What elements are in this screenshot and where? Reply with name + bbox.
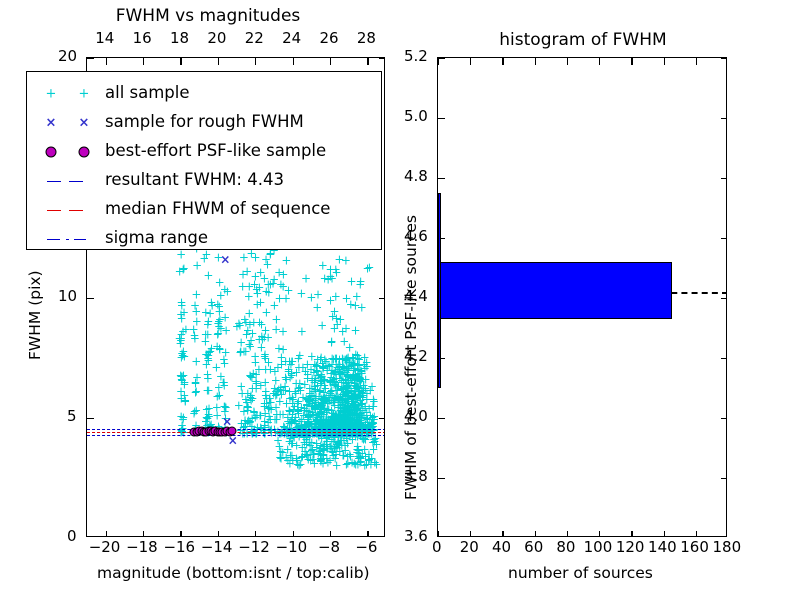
legend-marker <box>27 224 105 253</box>
dash-dot-line-icon <box>74 239 86 240</box>
axis-tick <box>664 58 665 65</box>
axis-tick-label: −8 <box>318 540 340 555</box>
axis-tick-label: −20 <box>89 540 121 555</box>
axis-tick <box>696 58 697 65</box>
axis-tick <box>106 531 107 536</box>
axis-tick <box>599 531 600 536</box>
axis-tick-label: 28 <box>357 31 376 46</box>
axis-tick <box>367 531 368 536</box>
axis-tick-label: 180 <box>713 540 742 555</box>
cross-icon: × <box>46 119 57 126</box>
axis-tick-label: 140 <box>648 540 677 555</box>
axis-tick <box>379 298 384 299</box>
cross-icon: × <box>79 119 90 126</box>
axis-tick-label: 22 <box>245 31 264 46</box>
legend-item[interactable]: resultant FWHM: 4.43 <box>27 166 381 195</box>
axis-tick-label: −10 <box>276 540 308 555</box>
legend-label: sigma range <box>105 230 208 247</box>
axis-tick <box>567 58 568 65</box>
axis-tick-label: 4.8 <box>404 169 428 184</box>
axis-tick <box>470 58 471 65</box>
legend-item[interactable]: best-effort PSF-like sample <box>27 137 381 166</box>
legend-box[interactable]: ++all sample××sample for rough FWHMbest-… <box>26 71 382 250</box>
dashed-line-icon <box>69 181 83 182</box>
legend-marker <box>27 166 105 195</box>
axis-tick <box>438 118 445 119</box>
axis-tick-label: 0 <box>432 540 442 555</box>
legend-label: best-effort PSF-like sample <box>105 143 326 160</box>
left-y-axis-label: FWHM (pix) <box>28 270 44 360</box>
axis-tick <box>438 418 445 419</box>
axis-tick-label: −14 <box>201 540 233 555</box>
axis-tick <box>438 478 445 479</box>
axis-tick-label: 120 <box>616 540 645 555</box>
left-plot-title: FWHM vs magnitudes <box>113 8 303 25</box>
axis-tick <box>438 178 445 179</box>
axis-tick <box>721 418 726 419</box>
axis-tick-label: 10 <box>58 289 77 304</box>
axis-tick <box>721 478 726 479</box>
axis-tick-label: 5.0 <box>404 109 428 124</box>
axis-tick <box>470 531 471 536</box>
left-x-axis-label: magnitude (bottom:isnt / top:calib) <box>97 566 370 582</box>
legend-item[interactable]: sigma range <box>27 224 381 253</box>
axis-tick-label: −6 <box>355 540 377 555</box>
axis-tick-label: 160 <box>680 540 709 555</box>
axis-tick <box>567 531 568 536</box>
axis-tick <box>721 58 726 59</box>
dash-dot-line-icon <box>47 239 60 240</box>
histogram-bar <box>438 193 441 388</box>
plus-icon: + <box>46 90 57 97</box>
axis-tick <box>721 298 726 299</box>
axis-tick <box>535 531 536 536</box>
axis-tick-label: 16 <box>133 31 152 46</box>
axis-tick <box>631 58 632 65</box>
right-plot-title: histogram of FWHM <box>478 32 688 49</box>
axis-tick <box>379 58 384 59</box>
right-x-axis-label: number of sources <box>508 566 653 582</box>
axis-tick <box>218 58 219 65</box>
axis-tick <box>180 531 181 536</box>
legend-item[interactable]: ××sample for rough FWHM <box>27 108 381 137</box>
axis-tick <box>87 58 94 59</box>
axis-tick-label: 80 <box>556 540 575 555</box>
axis-tick <box>330 531 331 536</box>
axis-tick-label: 60 <box>524 540 543 555</box>
axis-tick-label: 26 <box>319 31 338 46</box>
axis-tick <box>180 58 181 65</box>
axis-tick <box>106 58 107 65</box>
legend-marker: ×× <box>27 108 105 137</box>
axis-tick-label: 18 <box>170 31 189 46</box>
dashed-line-icon <box>47 210 61 211</box>
axis-tick-label: −18 <box>126 540 158 555</box>
axis-tick-label: 20 <box>460 540 479 555</box>
axis-tick <box>721 238 726 239</box>
axis-tick <box>255 58 256 65</box>
axis-tick <box>438 531 439 536</box>
axis-tick <box>502 531 503 536</box>
axis-tick <box>255 531 256 536</box>
axis-tick <box>535 58 536 65</box>
axis-tick <box>438 58 445 59</box>
figure-canvas: FWHM vs magnitudes 1416182022242628 0510… <box>0 0 800 600</box>
axis-tick <box>502 58 503 65</box>
axis-tick <box>143 531 144 536</box>
axis-tick-label: −16 <box>163 540 195 555</box>
axis-tick <box>218 531 219 536</box>
dashed-line-icon <box>47 181 61 182</box>
axis-tick <box>293 531 294 536</box>
axis-tick <box>696 531 697 536</box>
axis-tick <box>721 118 726 119</box>
axis-tick <box>330 58 331 65</box>
axis-tick-label: −12 <box>238 540 270 555</box>
axis-tick <box>721 358 726 359</box>
axis-tick-label: 20 <box>207 31 226 46</box>
axis-tick <box>631 531 632 536</box>
histogram-bar <box>438 262 672 319</box>
legend-marker <box>27 195 105 224</box>
axis-tick-label: 40 <box>492 540 511 555</box>
axis-tick <box>87 298 94 299</box>
histogram-axes[interactable] <box>437 57 727 537</box>
legend-label: sample for rough FWHM <box>105 114 304 131</box>
legend-item[interactable]: median FHWM of sequence <box>27 195 381 224</box>
filled-circle-icon <box>79 146 90 157</box>
axis-tick <box>599 58 600 65</box>
axis-tick-label: 0 <box>67 529 77 544</box>
axis-tick <box>293 58 294 65</box>
legend-marker: ++ <box>27 79 105 108</box>
dashed-line-icon <box>69 210 83 211</box>
axis-tick-label: 3.6 <box>404 529 428 544</box>
dash-dot-line-icon <box>66 239 69 240</box>
axis-tick-label: 24 <box>282 31 301 46</box>
right-y-axis-label: FWHM of best-effort PSF-like sources <box>404 215 420 500</box>
axis-tick <box>721 178 726 179</box>
axis-tick-label: 5.2 <box>404 49 428 64</box>
axis-tick-label: 14 <box>95 31 114 46</box>
legend-marker <box>27 137 105 166</box>
legend-item[interactable]: ++all sample <box>27 79 381 108</box>
legend-label: all sample <box>105 85 190 102</box>
legend-label: resultant FWHM: 4.43 <box>105 172 284 189</box>
filled-circle-icon <box>46 146 57 157</box>
legend-label: median FHWM of sequence <box>105 201 330 218</box>
axis-tick-label: 5 <box>67 409 77 424</box>
axis-tick <box>379 418 384 419</box>
axis-tick <box>664 531 665 536</box>
axis-tick-label: 20 <box>58 49 77 64</box>
plus-icon: + <box>79 90 90 97</box>
axis-tick <box>87 418 94 419</box>
axis-tick-label: 100 <box>584 540 613 555</box>
axis-tick <box>367 58 368 65</box>
axis-tick <box>143 58 144 65</box>
